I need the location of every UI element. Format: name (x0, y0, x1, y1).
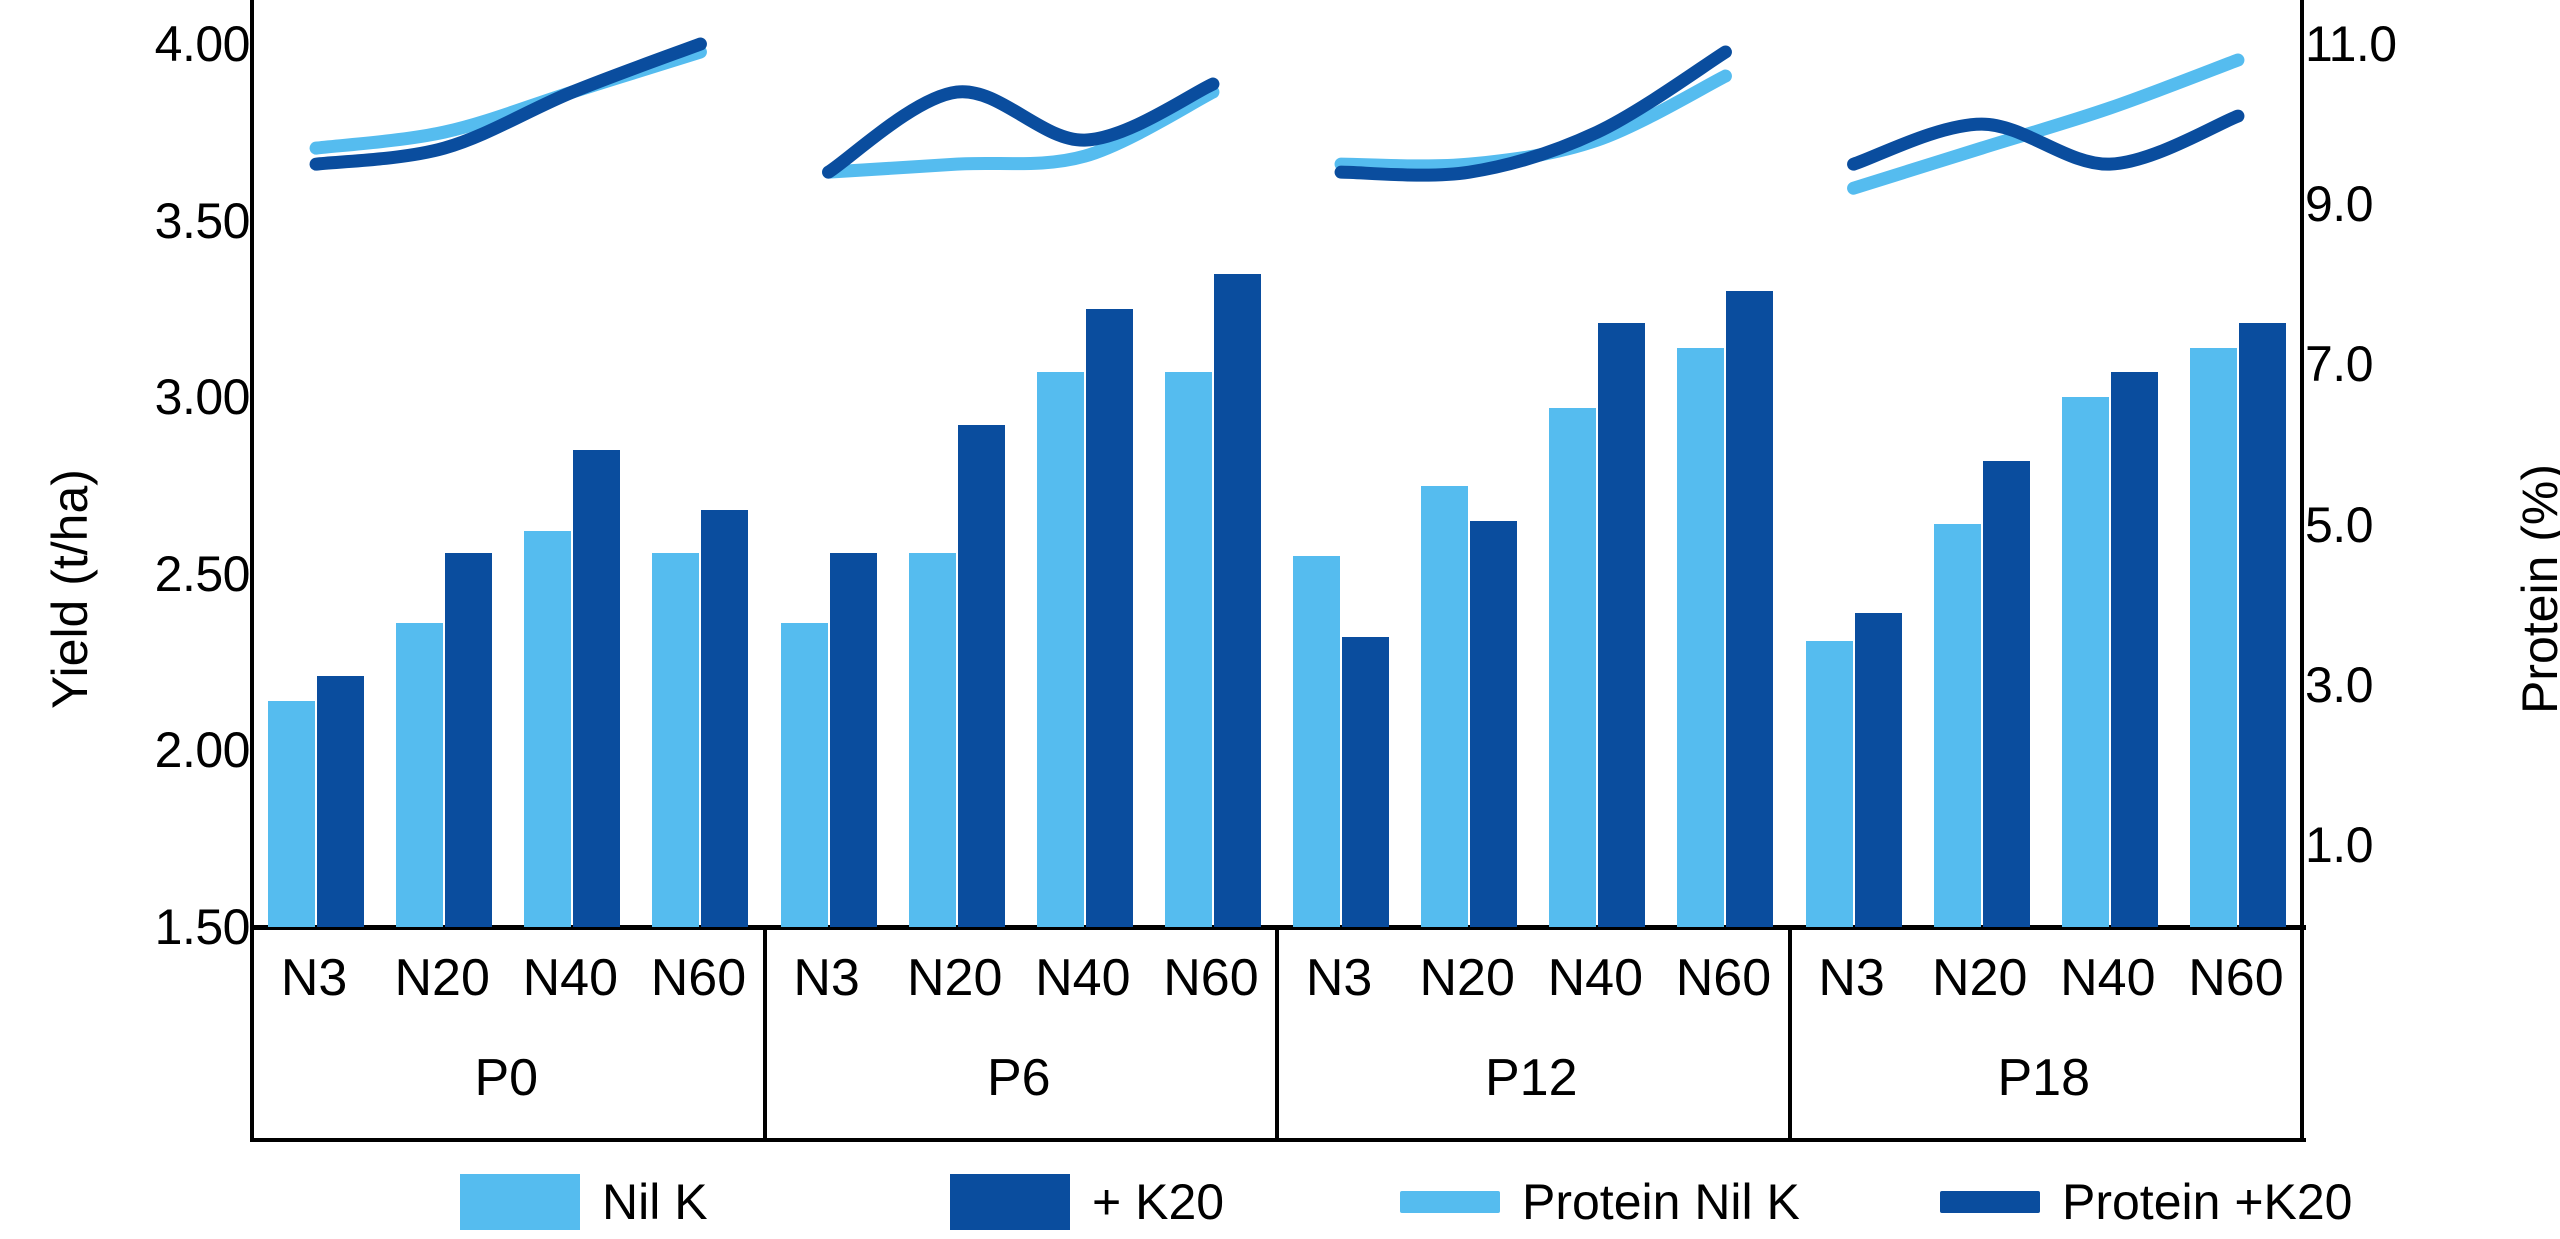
protein-line (829, 84, 1213, 172)
bar (1086, 309, 1133, 927)
x-tick-label: N60 (1659, 948, 1787, 1008)
bar (1983, 461, 2030, 927)
y-tick-label-right: 1.0 (2305, 816, 2495, 874)
plot-area (252, 0, 2302, 927)
x-group-p6: N3N20N40N60P6 (763, 930, 1276, 1140)
legend-swatch-line (1940, 1191, 2040, 1213)
chart-canvas: Yield (t/ha) Protein (%) 4.003.503.002.5… (0, 0, 2560, 1239)
x-tick-label: N3 (1275, 948, 1403, 1008)
y-tick-label-right: 11.0 (2305, 15, 2495, 73)
protein-line (316, 44, 700, 164)
x-group-label: P18 (1788, 1048, 2301, 1108)
bar (1549, 408, 1596, 927)
x-group-p12: N3N20N40N60P12 (1275, 930, 1788, 1140)
x-group-separator (763, 930, 767, 1140)
x-tick-label: N20 (1403, 948, 1531, 1008)
legend-label: Protein Nil K (1522, 1173, 1800, 1231)
x-tick-label: N3 (1788, 948, 1916, 1008)
x-tick-label: N40 (506, 948, 634, 1008)
bar (396, 623, 443, 927)
y-tick-label-right: 9.0 (2305, 175, 2495, 233)
x-tick-label: N20 (378, 948, 506, 1008)
x-tick-label: N20 (1916, 948, 2044, 1008)
bar (781, 623, 828, 927)
x-group-separator (1275, 930, 1279, 1140)
bar (1293, 556, 1340, 927)
legend-swatch-line (1400, 1191, 1500, 1213)
bar (524, 531, 571, 927)
bar (1598, 323, 1645, 927)
y-tick-label-left: 1.50 (60, 898, 250, 956)
bar (2062, 397, 2109, 927)
bar (1214, 274, 1261, 927)
legend-swatch-box (950, 1174, 1070, 1230)
bar (573, 450, 620, 927)
bar (958, 425, 1005, 927)
legend-item[interactable]: Protein Nil K (1400, 1173, 1800, 1231)
legend-label: + K20 (1092, 1173, 1224, 1231)
bar (830, 553, 877, 927)
x-tick-label: N60 (2172, 948, 2300, 1008)
legend-swatch-box (460, 1174, 580, 1230)
bar (1342, 637, 1389, 927)
y-tick-label-left: 3.50 (60, 192, 250, 250)
bar (317, 676, 364, 927)
x-tick-label: N3 (250, 948, 378, 1008)
bar (909, 553, 956, 927)
y-tick-label-right: 3.0 (2305, 656, 2495, 714)
x-group-separator (1788, 930, 1792, 1140)
y-tick-label-left: 2.00 (60, 721, 250, 779)
bar (1806, 641, 1853, 927)
y-tick-label-right: 5.0 (2305, 496, 2495, 554)
x-group-label: P0 (250, 1048, 763, 1108)
x-tick-label: N40 (1531, 948, 1659, 1008)
protein-line (1341, 52, 1725, 175)
bar (1934, 524, 1981, 927)
bar (1470, 521, 1517, 927)
x-group-label: P12 (1275, 1048, 1788, 1108)
bar (2239, 323, 2286, 927)
x-group-p0: N3N20N40N60P0 (250, 930, 763, 1140)
legend-label: Protein +K20 (2062, 1173, 2352, 1231)
x-group-p18: N3N20N40N60P18 (1788, 930, 2301, 1140)
bar (1037, 372, 1084, 927)
bar (652, 553, 699, 927)
x-group-separator (250, 930, 254, 1140)
protein-line (1341, 76, 1725, 166)
bar (1421, 486, 1468, 928)
y-tick-label-left: 2.50 (60, 545, 250, 603)
x-axis-label-table: N3N20N40N60P0N3N20N40N60P6N3N20N40N60P12… (250, 930, 2306, 1140)
legend-label: Nil K (602, 1173, 708, 1231)
legend-item[interactable]: Protein +K20 (1940, 1173, 2352, 1231)
x-tick-label: N60 (634, 948, 762, 1008)
bar (1726, 291, 1773, 927)
x-tick-label: N20 (891, 948, 1019, 1008)
x-axis-label-table-bottom-border (250, 1138, 2306, 1142)
legend-item[interactable]: Nil K (460, 1173, 708, 1231)
bar (2190, 348, 2237, 927)
y-tick-label-right: 7.0 (2305, 335, 2495, 393)
bar (1855, 613, 1902, 927)
bar (2111, 372, 2158, 927)
x-tick-label: N40 (1019, 948, 1147, 1008)
x-tick-label: N3 (763, 948, 891, 1008)
protein-line (829, 92, 1213, 172)
legend-item[interactable]: + K20 (950, 1173, 1224, 1231)
protein-line (1854, 60, 2238, 188)
x-group-separator (2300, 930, 2304, 1140)
protein-line (316, 52, 700, 148)
x-tick-label: N40 (2044, 948, 2172, 1008)
protein-line (1854, 116, 2238, 164)
bar (268, 701, 315, 927)
y-tick-label-left: 3.00 (60, 368, 250, 426)
bar (445, 553, 492, 927)
bar (1165, 372, 1212, 927)
legend: Nil K+ K20Protein Nil KProtein +K20 (250, 1165, 2310, 1239)
y-tick-label-left: 4.00 (60, 15, 250, 73)
x-tick-label: N60 (1147, 948, 1275, 1008)
y-axis-right-title: Protein (%) (2511, 379, 2560, 799)
x-group-label: P6 (763, 1048, 1276, 1108)
bar (1677, 348, 1724, 927)
bar (701, 510, 748, 927)
